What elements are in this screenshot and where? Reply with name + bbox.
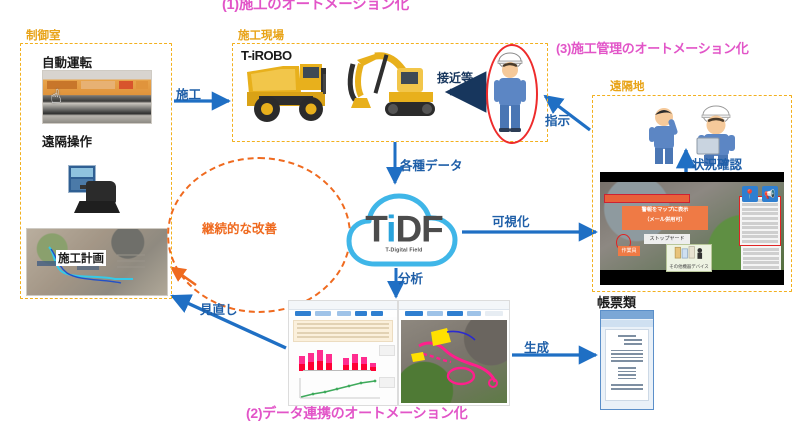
tidf-logo: TiDF T-Digital Field [365, 212, 443, 253]
map-legend-panel-primary [739, 196, 781, 246]
arrow-label-bunseki: 分析 [398, 268, 423, 287]
tidf-cloud[interactable]: TiDF T-Digital Field [345, 186, 463, 276]
device-icons [667, 245, 711, 265]
map-stop-yard-label: ストップヤード [644, 234, 690, 244]
section-title-2: (2)データ連携のオートメーション化 [246, 403, 467, 423]
arrow-label-seisei: 生成 [524, 337, 549, 356]
arrow-label-sekkin: 接近等 [437, 69, 473, 86]
map-pin-button[interactable]: 📍 [742, 186, 758, 202]
section-title-3: (3)施工管理のオートメーション化 [556, 38, 749, 57]
analytics-dashboard-screenshot[interactable] [288, 300, 398, 406]
caption-construction-plan: 施工計画 [56, 250, 106, 266]
gis-satellite-layer [401, 320, 507, 403]
dashboard-table [293, 320, 393, 342]
label-remote-operation: 遠隔操作 [42, 131, 92, 150]
map-device-caption: その他機器デバイス [667, 264, 711, 270]
gis-toolbar [399, 301, 509, 310]
dump-truck-illustration [243, 52, 339, 126]
excavator-illustration [345, 48, 441, 126]
diagram-canvas: (1)施工のオートメーション化 (3)施工管理のオートメーション化 (2)データ… [0, 0, 800, 418]
tidf-letter-df: DF [395, 208, 442, 249]
remote-operation-rig-photo [66, 165, 124, 217]
gis-map-dashboard-screenshot[interactable] [398, 300, 510, 406]
label-continuous-improvement: 継続的な改善 [202, 218, 277, 237]
tidf-letter-t: T [365, 208, 386, 249]
remote-monitoring-map-screenshot[interactable]: 警報をマップに表示 （メール併用可） ストップヤード 作業員 その他機器デバイス… [600, 172, 784, 285]
doc-page [605, 329, 649, 401]
map-alert-button[interactable]: 📢 [762, 186, 778, 202]
doc-toolbar [601, 320, 653, 327]
hand-cursor-icon: ☝ [48, 87, 63, 108]
gis-route-overlay [401, 320, 507, 403]
map-alert-callout: 警報をマップに表示 （メール併用可） [622, 206, 708, 230]
worker-highlight-ellipse [486, 44, 538, 144]
dashboard-bar-chart [297, 345, 375, 371]
group-label-remote-location: 遠隔地 [610, 78, 645, 94]
map-device-callout: その他機器デバイス [666, 244, 712, 272]
tidf-letter-i: i [386, 208, 395, 249]
map-alert-banner [604, 194, 690, 203]
arrow-label-minaoshi: 見直し [200, 299, 238, 318]
group-label-construction-site: 施工現場 [238, 27, 284, 43]
group-label-control-room: 制御室 [26, 27, 61, 43]
arrow-label-joukyou: 状況確認 [692, 154, 742, 173]
dashboard-line-chart [297, 377, 381, 399]
arrow-label-sekou: 施工 [176, 84, 201, 103]
section-title-1: (1)施工のオートメーション化 [222, 0, 409, 14]
doc-titlebar [601, 311, 653, 319]
label-report-forms: 帳票類 [597, 292, 636, 311]
dashboard-toolbar [289, 301, 397, 310]
map-legend-panel-secondary [741, 246, 781, 270]
arrow-label-shiji: 指示 [545, 110, 570, 129]
report-document-screenshot[interactable] [600, 310, 654, 410]
label-auto-drive: 自動運転 [42, 52, 92, 71]
arrow-label-kakushu-data: 各種データ [400, 155, 463, 174]
arrow-label-kashika: 可視化 [492, 211, 530, 230]
map-worker-pin-label: 作業員 [618, 246, 640, 256]
